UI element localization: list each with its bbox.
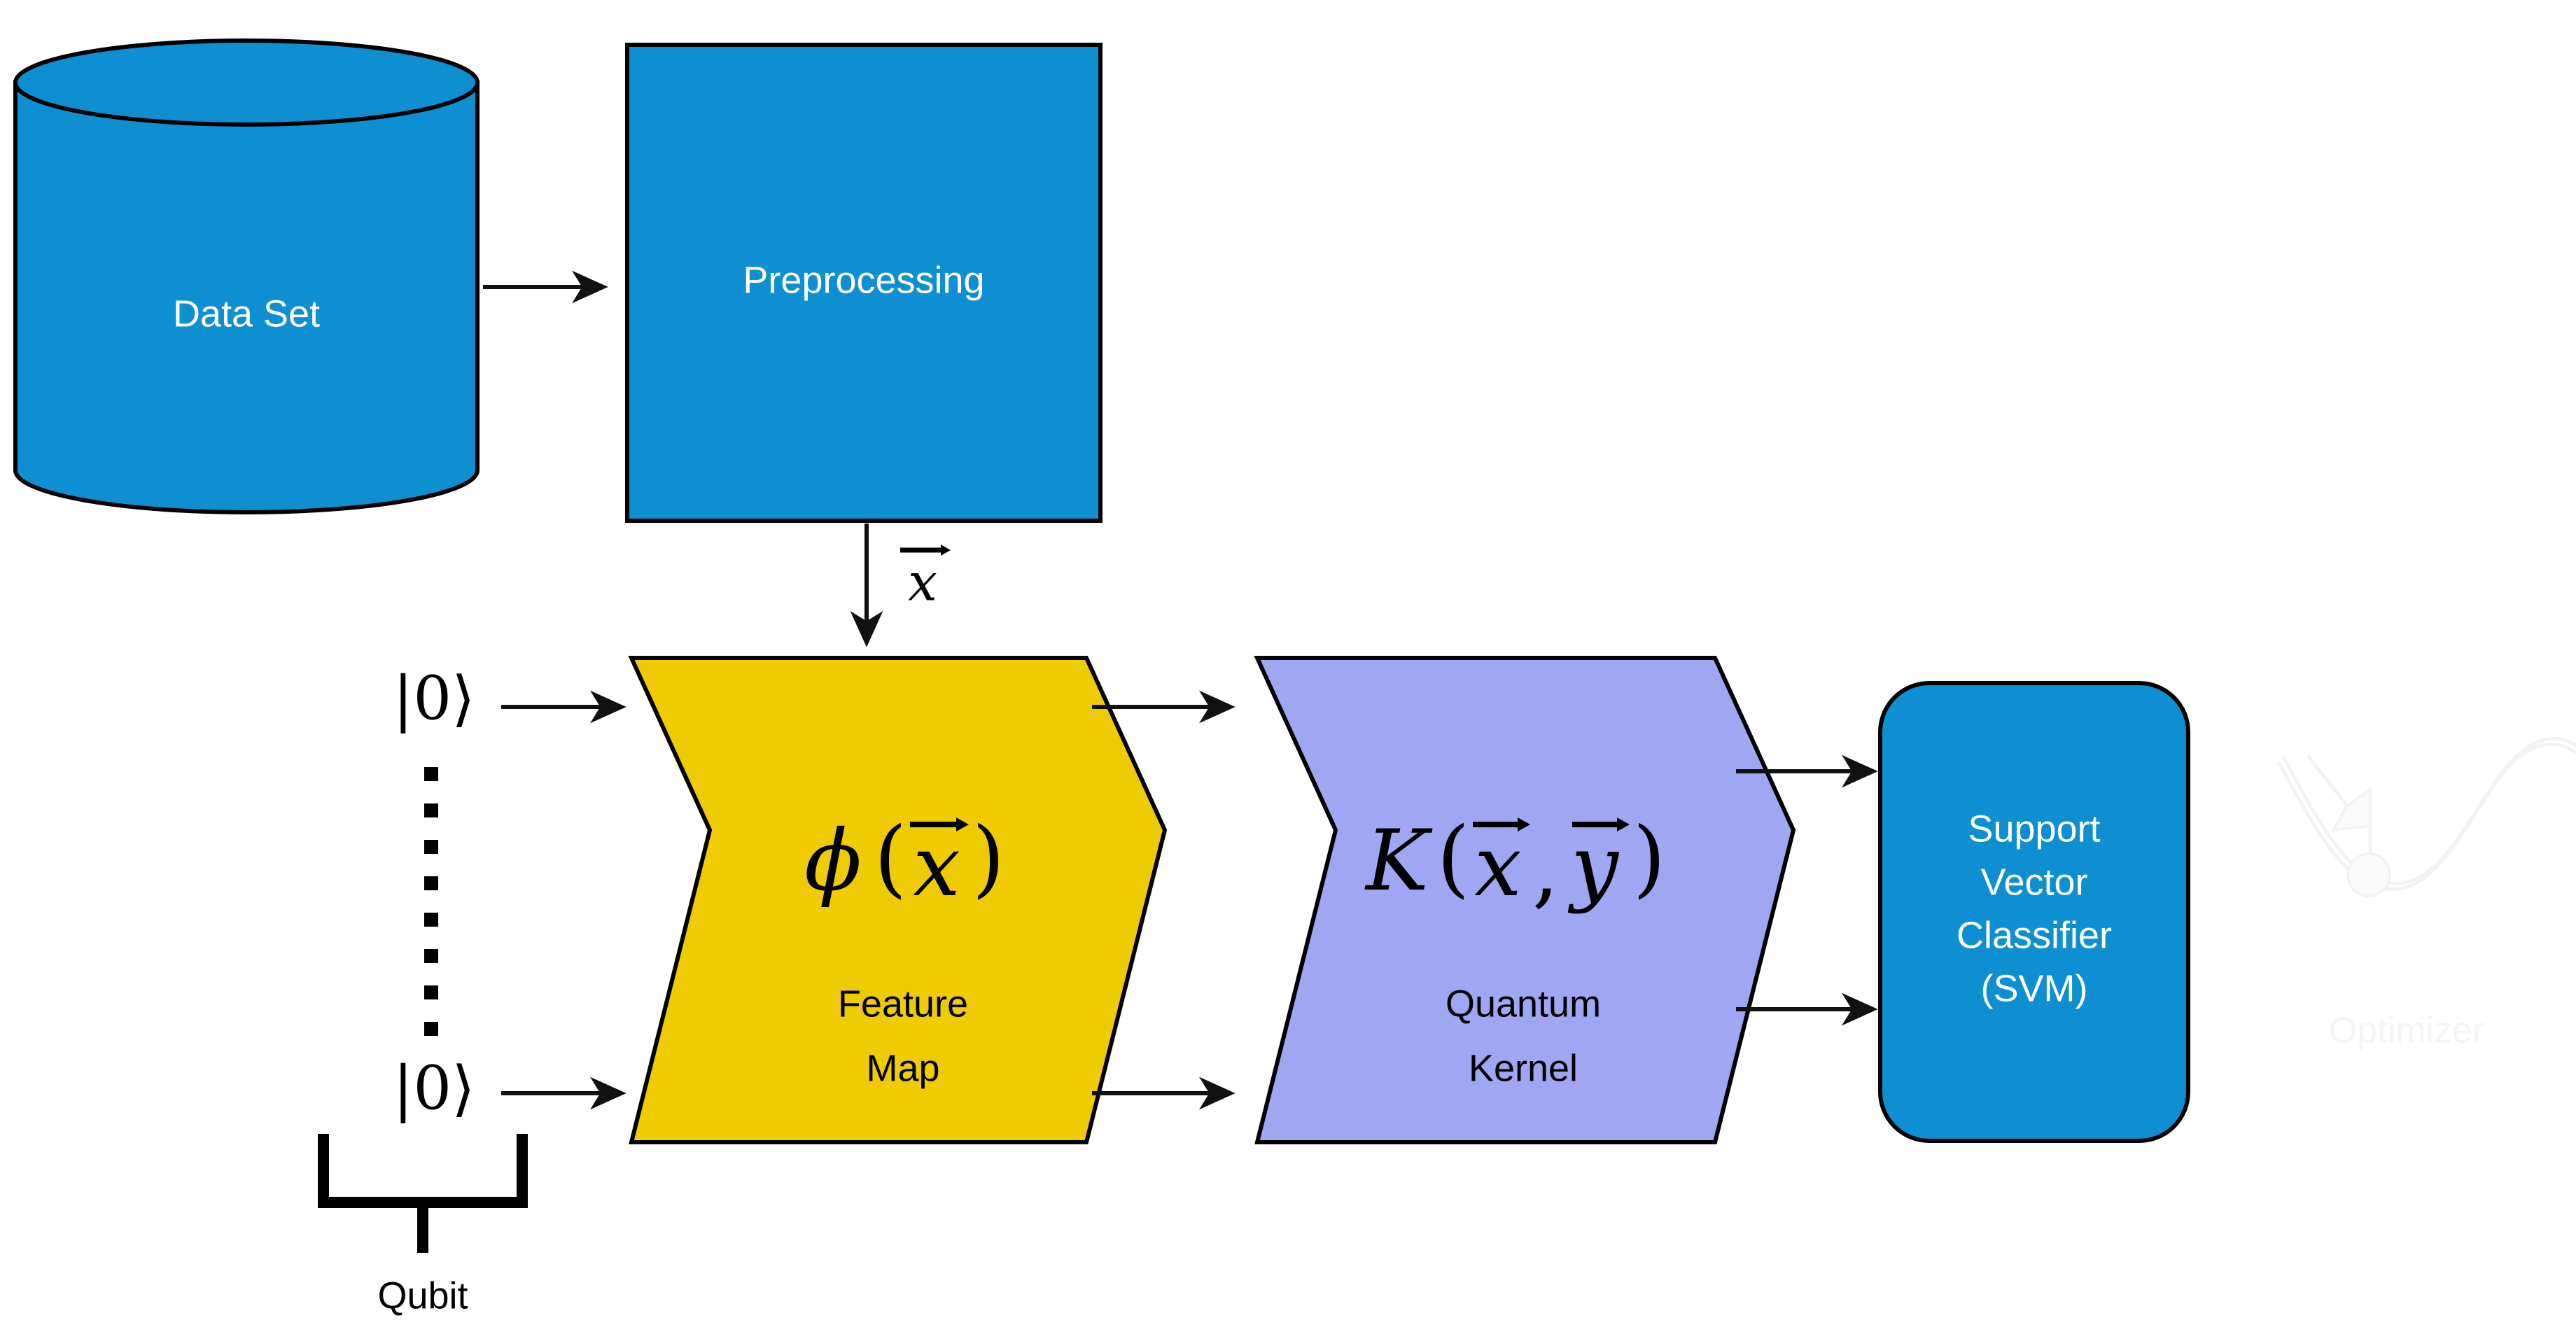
node-quantum-kernel[interactable]: K ( x , y ) Quantum Kernel (1257, 658, 1793, 1142)
node-feature-map[interactable]: ϕ ( x ) Feature Map (631, 658, 1165, 1142)
ket-state-top: |0⟩ (393, 664, 475, 734)
qubit-bracket (323, 1134, 522, 1202)
feature-map-phi-symbol: ϕ (804, 813, 862, 910)
dataset-label: Data Set (173, 293, 320, 335)
svm-label-line4: (SVM) (1981, 967, 2088, 1009)
ket-state-bottom: |0⟩ (393, 1054, 475, 1124)
edge-qubits-to-featuremap (501, 707, 622, 1093)
node-svm[interactable]: Support Vector Classifier (SVM) (1880, 683, 2188, 1141)
quantum-kernel-label-line1: Quantum (1445, 983, 1601, 1025)
x-vector-symbol: x (908, 552, 937, 612)
qubit-label: Qubit (377, 1275, 468, 1317)
qubit-register[interactable]: |0⟩ |0⟩ Qubit (323, 664, 522, 1317)
quantum-kernel-variable-y: y (1567, 818, 1620, 915)
feature-map-close-paren: ) (972, 810, 1005, 907)
svm-label-line1: Support (1968, 808, 2100, 850)
quantum-kernel-comma: , (1532, 821, 1559, 918)
node-dataset[interactable]: Data Set (15, 41, 477, 512)
feature-map-open-paren: ( (874, 810, 907, 907)
qubit-ellipsis-dots (424, 767, 438, 1036)
quantum-kernel-variable-x: x (1474, 818, 1522, 915)
optimizer-label: Optimizer (2329, 1011, 2484, 1051)
svm-label-line2: Vector (1980, 861, 2087, 903)
quantum-kernel-K-symbol: K (1364, 813, 1433, 910)
optimizer-loss-curve (2279, 744, 2576, 889)
feature-map-variable: x (913, 818, 960, 915)
node-optimizer[interactable]: Optimizer (2279, 738, 2576, 1051)
dataset-cylinder-top (15, 41, 477, 125)
x-vector-overbar-arrowhead (941, 545, 951, 556)
preprocessing-label: Preprocessing (743, 259, 984, 301)
svm-label-line3: Classifier (1956, 914, 2112, 956)
node-preprocessing[interactable]: Preprocessing (627, 45, 1100, 521)
quantum-kernel-open-paren: ( (1437, 810, 1470, 907)
feature-map-label-line1: Feature (838, 983, 968, 1025)
edge-preprocessing-to-featuremap: x (867, 524, 951, 643)
quantum-kernel-close-paren: ) (1633, 810, 1666, 907)
quantum-kernel-label-line2: Kernel (1469, 1047, 1578, 1089)
feature-map-label-line2: Map (866, 1047, 939, 1089)
svm-box (1880, 683, 2188, 1141)
quantum-kernel-pipeline-diagram: Data Set Preprocessing x |0⟩ |0⟩ (0, 0, 2576, 1334)
x-vector-label: x (900, 545, 951, 612)
optimizer-ball-icon (2348, 854, 2390, 896)
feature-map-formula: ϕ ( x ) (804, 810, 1004, 915)
optimizer-loss-curve-shadow (2283, 738, 2576, 883)
diagram-canvas: Data Set Preprocessing x |0⟩ |0⟩ (0, 0, 2576, 1334)
